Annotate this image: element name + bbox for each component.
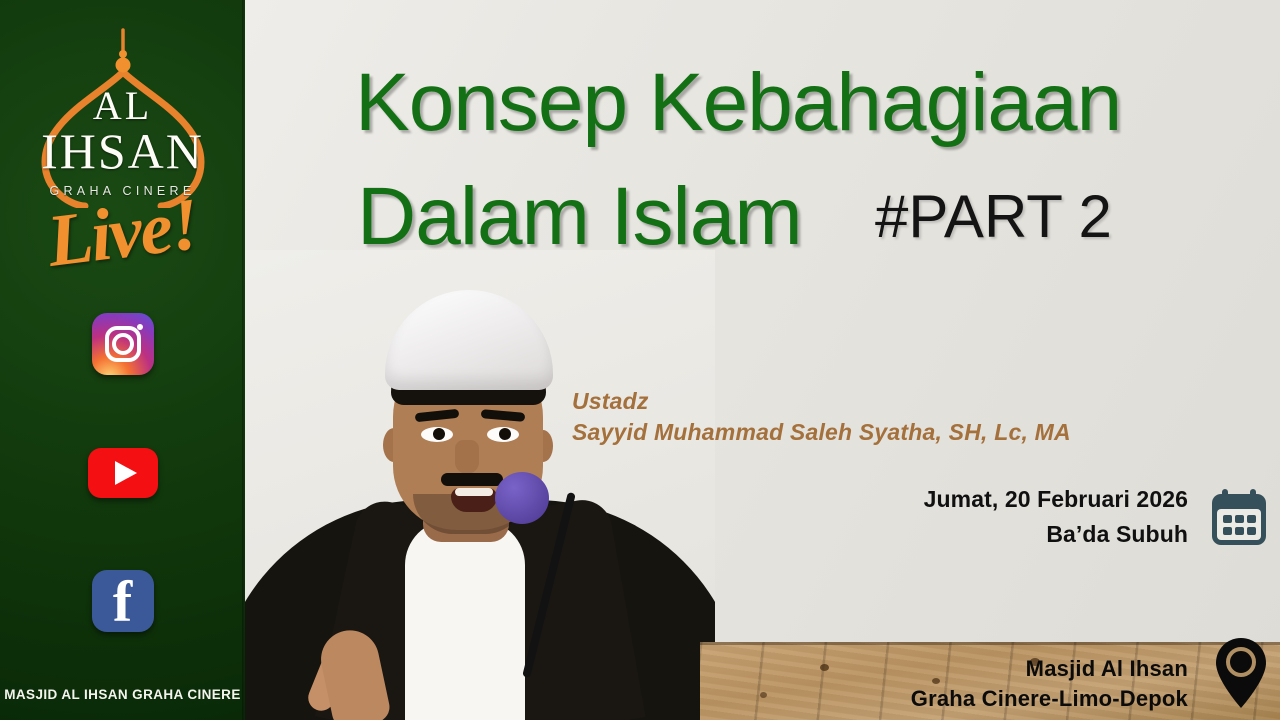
venue-line-2: Graha Cinere-Limo-Depok — [911, 684, 1188, 714]
wood-knot — [820, 664, 829, 671]
youtube-play-triangle — [115, 461, 137, 485]
speaker-name: Sayyid Muhammad Saleh Syatha, SH, Lc, MA — [572, 416, 1071, 448]
youtube-icon[interactable] — [88, 448, 158, 498]
schedule-time: Ba’da Subuh — [924, 516, 1188, 552]
speaker-credit: Ustadz Sayyid Muhammad Saleh Syatha, SH,… — [572, 386, 1071, 448]
instagram-lens — [112, 333, 134, 355]
speaker-teeth — [455, 488, 493, 496]
main-content: Konsep Kebahagiaan Dalam Islam #PART 2 — [245, 0, 1280, 720]
calendar-icon — [1208, 487, 1270, 549]
brand-sidebar: AL IHSAN GRAHA CINERE Live! f MASJID AL … — [0, 0, 245, 720]
logo-line-1: AL — [0, 86, 245, 126]
location-pin-icon — [1214, 636, 1268, 710]
stream-overlay-slide: AL IHSAN GRAHA CINERE Live! f MASJID AL … — [0, 0, 1280, 720]
speaker-photo — [245, 250, 715, 720]
page-title-line-1: Konsep Kebahagiaan — [355, 56, 1121, 150]
part-badge: #PART 2 — [875, 182, 1112, 251]
sidebar-footer-text: MASJID AL IHSAN GRAHA CINERE — [0, 687, 245, 702]
speaker-thobe — [405, 520, 525, 720]
mosque-logo: AL IHSAN GRAHA CINERE — [0, 14, 245, 214]
schedule-date: Jumat, 20 Februari 2026 — [924, 482, 1188, 516]
venue-line-1: Masjid Al Ihsan — [911, 654, 1188, 684]
logo-line-2: IHSAN — [0, 126, 245, 176]
wood-knot — [760, 692, 767, 698]
facebook-f-glyph: f — [92, 570, 154, 632]
speaker-pupil-right — [499, 428, 511, 440]
speaker-pupil-left — [433, 428, 445, 440]
instagram-icon[interactable] — [92, 313, 154, 375]
venue-block: Masjid Al Ihsan Graha Cinere-Limo-Depok — [911, 654, 1188, 714]
speaker-moustache — [441, 473, 503, 486]
speaker-role: Ustadz — [572, 386, 1071, 416]
instagram-dot — [137, 324, 143, 330]
speaker-nose — [455, 440, 479, 474]
schedule-block: Jumat, 20 Februari 2026 Ba’da Subuh — [924, 482, 1188, 552]
facebook-icon[interactable]: f — [92, 570, 154, 632]
microphone-windscreen — [495, 472, 549, 524]
